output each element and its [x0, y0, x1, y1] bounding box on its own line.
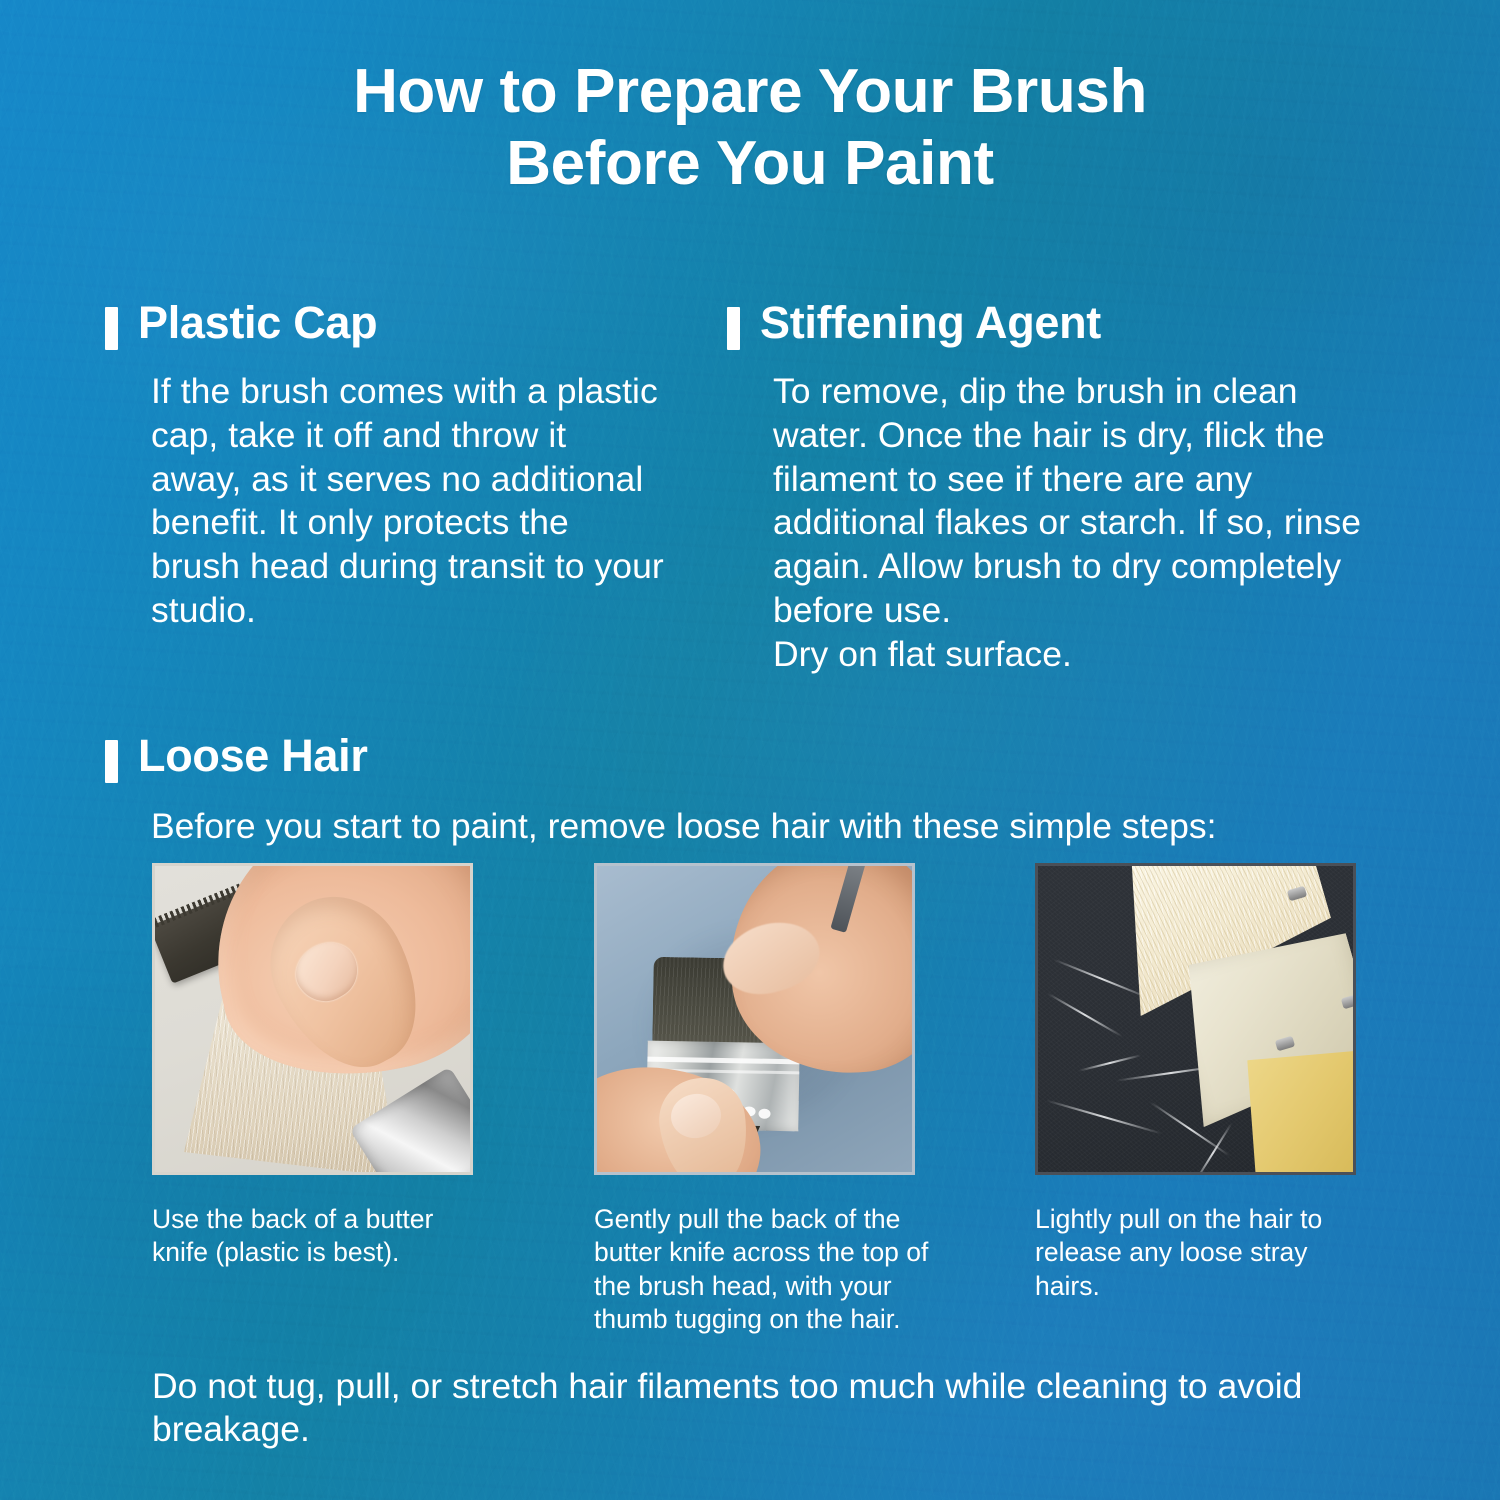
stray-hair-icon: [1053, 959, 1150, 1000]
section-loose-hair: Loose Hair Before you start to paint, re…: [105, 733, 1395, 848]
section-stiffening-agent: Stiffening Agent To remove, dip the brus…: [727, 300, 1387, 677]
section-loose-hair-title: Loose Hair: [138, 733, 368, 778]
page-title-line-1: How to Prepare Your Brush: [353, 57, 1147, 126]
section-stiffening-agent-body: To remove, dip the brush in clean water.…: [727, 370, 1387, 677]
section-loose-hair-header: Loose Hair: [105, 733, 1395, 783]
section-plastic-cap-body: If the brush comes with a plastic cap, t…: [105, 370, 665, 633]
section-plastic-cap-header: Plastic Cap: [105, 300, 665, 350]
step-2-photo: [594, 863, 915, 1175]
stray-hair-icon: [1047, 993, 1122, 1038]
page-title-line-2: Before You Paint: [0, 128, 1500, 200]
infographic-page: How to Prepare Your Brush Before You Pai…: [0, 0, 1500, 1500]
accent-bar-icon: [727, 307, 740, 350]
accent-bar-icon: [105, 740, 118, 783]
section-plastic-cap-title: Plastic Cap: [138, 300, 377, 345]
step-3-caption: Lightly pull on the hair to release any …: [1035, 1203, 1365, 1303]
section-stiffening-agent-header: Stiffening Agent: [727, 300, 1387, 350]
stray-hair-icon: [1194, 1123, 1233, 1172]
section-plastic-cap-paragraph: If the brush comes with a plastic cap, t…: [151, 370, 665, 633]
step-2-caption: Gently pull the back of the butter knife…: [594, 1203, 954, 1337]
page-title: How to Prepare Your Brush Before You Pai…: [0, 56, 1500, 200]
step-1-caption: Use the back of a butter knife (plastic …: [152, 1203, 482, 1270]
step-1-photo: [152, 863, 473, 1175]
stray-hair-icon: [1079, 1054, 1142, 1071]
section-stiffening-agent-title: Stiffening Agent: [760, 300, 1101, 345]
section-loose-hair-intro: Before you start to paint, remove loose …: [105, 805, 1395, 848]
step-3-photo: [1035, 863, 1356, 1175]
section-stiffening-agent-paragraph-2: Dry on flat surface.: [773, 633, 1387, 677]
step-photo-row: [152, 863, 1354, 1175]
section-stiffening-agent-paragraph-1: To remove, dip the brush in clean water.…: [773, 370, 1387, 633]
section-plastic-cap: Plastic Cap If the brush comes with a pl…: [105, 300, 665, 633]
footer-note: Do not tug, pull, or stretch hair filame…: [152, 1365, 1382, 1450]
stray-hair-icon: [1046, 1100, 1162, 1135]
accent-bar-icon: [105, 307, 118, 350]
